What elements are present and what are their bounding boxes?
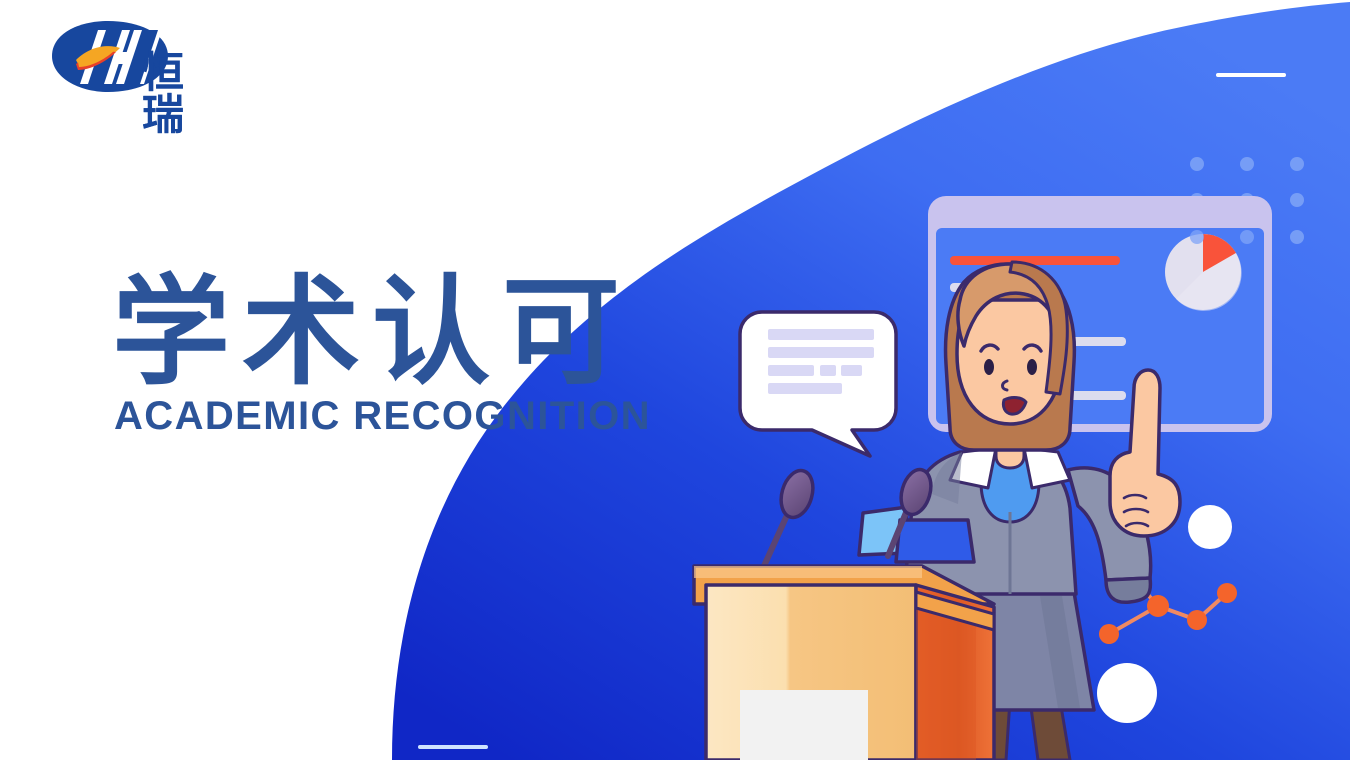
pie-chart <box>1165 234 1242 311</box>
logo-brand-text: 恒瑞 <box>142 52 216 136</box>
hengrui-logo[interactable]: 恒瑞 <box>46 14 216 102</box>
podium <box>694 566 994 760</box>
podium-paper <box>740 690 868 760</box>
page-title-en: ACADEMIC RECOGNITION <box>114 396 651 436</box>
presenter-head <box>946 262 1075 468</box>
slide-canvas: 恒瑞 学术认可 ACADEMIC RECOGNITION <box>0 0 1350 760</box>
white-circle-small <box>1188 505 1232 549</box>
white-divider-top <box>1216 73 1286 77</box>
page-title-cn: 学术认可 <box>112 272 632 392</box>
white-divider-bottom <box>418 745 488 749</box>
white-circle-large <box>1097 663 1157 723</box>
